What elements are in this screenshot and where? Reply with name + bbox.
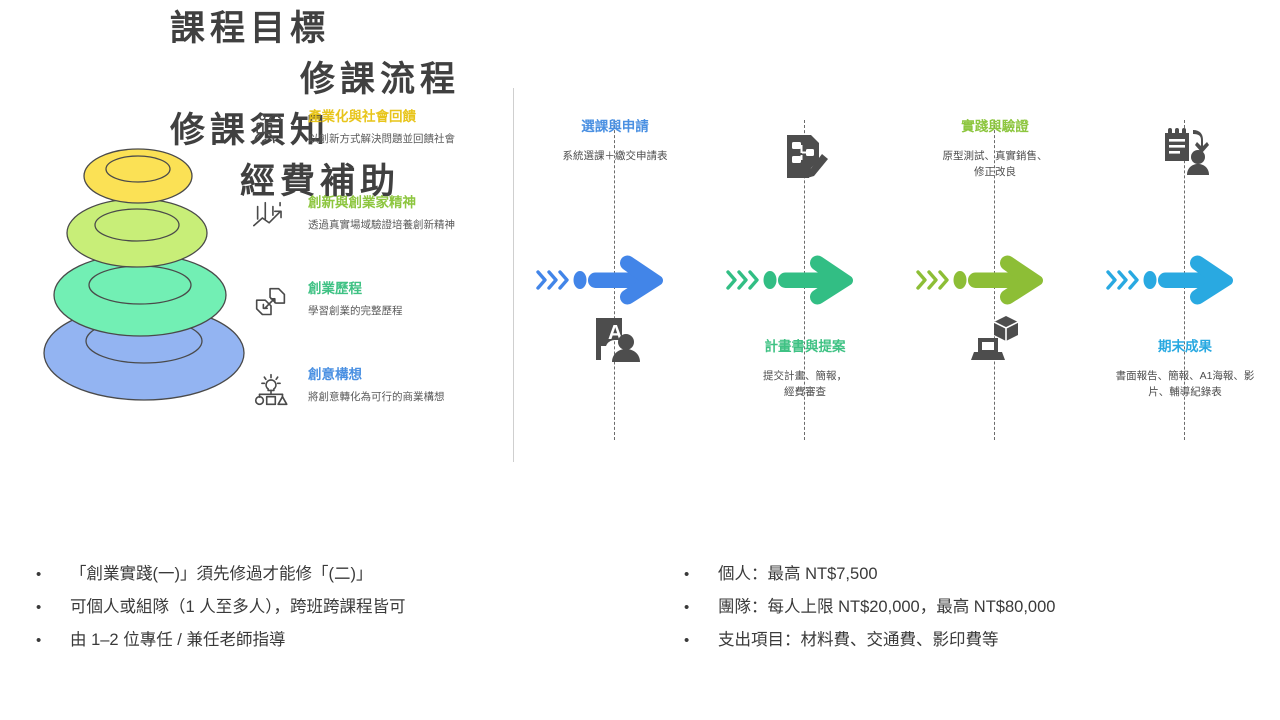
document-edit-icon [778,130,832,184]
arrow-right-icon [968,256,1043,305]
flow-step-description: 系統選課＋繳交申請表 [520,148,710,164]
goal-description: 以創新方式解決問題並回饋社會 [308,132,508,146]
chevron-trio-icon [538,272,567,288]
goal-item-innovation: 創新與創業家精神 透過真實場域驗證培養創新精神 [246,194,504,280]
flow-arrow-1 [520,250,710,310]
goal-heading: 產業化與社會回饋 [308,108,508,125]
flow-step-2: 計畫書與提案 提交計畫、簡報， 經費審查 [710,100,900,460]
flow-step-4: 期末成果 書面報告、簡報、A1海報、影 片、輔導紀錄表 [1090,100,1280,460]
flow-step-description: 提交計畫、簡報， 經費審查 [710,368,900,400]
id-card-person-icon: A [588,312,642,366]
list-item: 團隊：每人上限 NT$20,000，最高 NT$80,000 [676,591,1256,624]
flow-step-3-text: 實踐與驗證 原型測試、真實銷售、 修正改良 [900,100,1090,248]
flow-step-4-text: 期末成果 書面報告、簡報、A1海報、影 片、輔導紀錄表 [1090,312,1280,452]
lightbulb-idea-icon [250,368,292,412]
flow-step-1-text: 選課與申請 系統選課＋繳交申請表 [520,100,710,248]
flow-step-description: 原型測試、真實銷售、 修正改良 [900,148,1090,180]
flow-step-label: 選課與申請 [520,118,710,136]
arrow-right-icon [588,256,663,305]
stone-second [67,199,207,267]
course-notes-list: 「創業實踐(一)」須先修過才能修「(二)」 可個人或組隊（1 人至多人），跨班跨… [28,558,498,657]
laptop-cube-icon [968,312,1022,366]
flow-step-2-text: 計畫書與提案 提交計畫、簡報， 經費審查 [710,312,900,452]
arrow-right-icon [1158,256,1233,305]
goal-heading: 創意構想 [308,366,508,383]
step-node-dot [764,271,777,289]
flow-step-label: 期末成果 [1090,338,1280,356]
step-node-dot [574,271,587,289]
chevron-trio-icon [728,272,757,288]
flow-step-label: 實踐與驗證 [900,118,1090,136]
goal-heading: 創業歷程 [308,280,508,297]
flow-step-4-icon-area [1090,100,1280,248]
goal-description: 將創意轉化為可行的商業構想 [308,390,508,404]
cycle-arrows-icon [250,282,292,326]
industry-society-icon [250,110,292,154]
page-title-course-goals: 課程目標 [0,0,500,51]
flow-arrow-4 [1090,250,1280,310]
list-item: 可個人或組隊（1 人至多人），跨班跨課程皆可 [28,591,498,624]
arrow-right-icon [778,256,853,305]
goal-item-industry: 產業化與社會回饋 以創新方式解決問題並回饋社會 [246,108,504,194]
funding-list: 個人：最高 NT$7,500 團隊：每人上限 NT$20,000，最高 NT$8… [676,558,1256,657]
growth-chart-icon [250,196,292,240]
flow-step-3-icon-area [900,312,1090,452]
course-goal-list: 產業化與社會回饋 以創新方式解決問題並回饋社會 創新與創業家精神 透過真實場域驗… [246,108,504,452]
flow-arrow-3 [900,250,1090,310]
flow-step-1: 選課與申請 系統選課＋繳交申請表 [520,100,710,460]
stacked-stones-graphic [28,126,260,406]
list-item: 個人：最高 NT$7,500 [676,558,1256,591]
flow-step-3: 實踐與驗證 原型測試、真實銷售、 修正改良 [900,100,1090,460]
chevron-trio-icon [1108,272,1137,288]
goal-description: 學習創業的完整歷程 [308,304,508,318]
flow-step-2-icon-area [710,100,900,248]
goal-item-journey: 創業歷程 學習創業的完整歷程 [246,280,504,366]
stone-top [84,149,192,203]
step-node-dot [954,271,967,289]
flow-step-1-icon-area: A [520,312,710,452]
goal-description: 透過真實場域驗證培養創新精神 [308,218,508,232]
goal-item-idea: 創意構想 將創意轉化為可行的商業構想 [246,366,504,452]
process-flow-diagram: 選課與申請 系統選課＋繳交申請表 [520,100,1280,460]
chevron-trio-icon [918,272,947,288]
list-item: 「創業實踐(一)」須先修過才能修「(二)」 [28,558,498,591]
flow-arrow-2 [710,250,900,310]
step-node-dot [1144,271,1157,289]
vertical-divider [513,88,514,462]
list-item: 支出項目：材料費、交通費、影印費等 [676,624,1256,657]
flow-step-description: 書面報告、簡報、A1海報、影 片、輔導紀錄表 [1090,368,1280,400]
goal-heading: 創新與創業家精神 [308,194,508,211]
flow-step-label: 計畫書與提案 [710,338,900,356]
list-item: 由 1–2 位專任 / 兼任老師指導 [28,624,498,657]
page-title-process-flow: 修課流程 [0,51,760,102]
clipboard-person-icon [1158,124,1212,178]
